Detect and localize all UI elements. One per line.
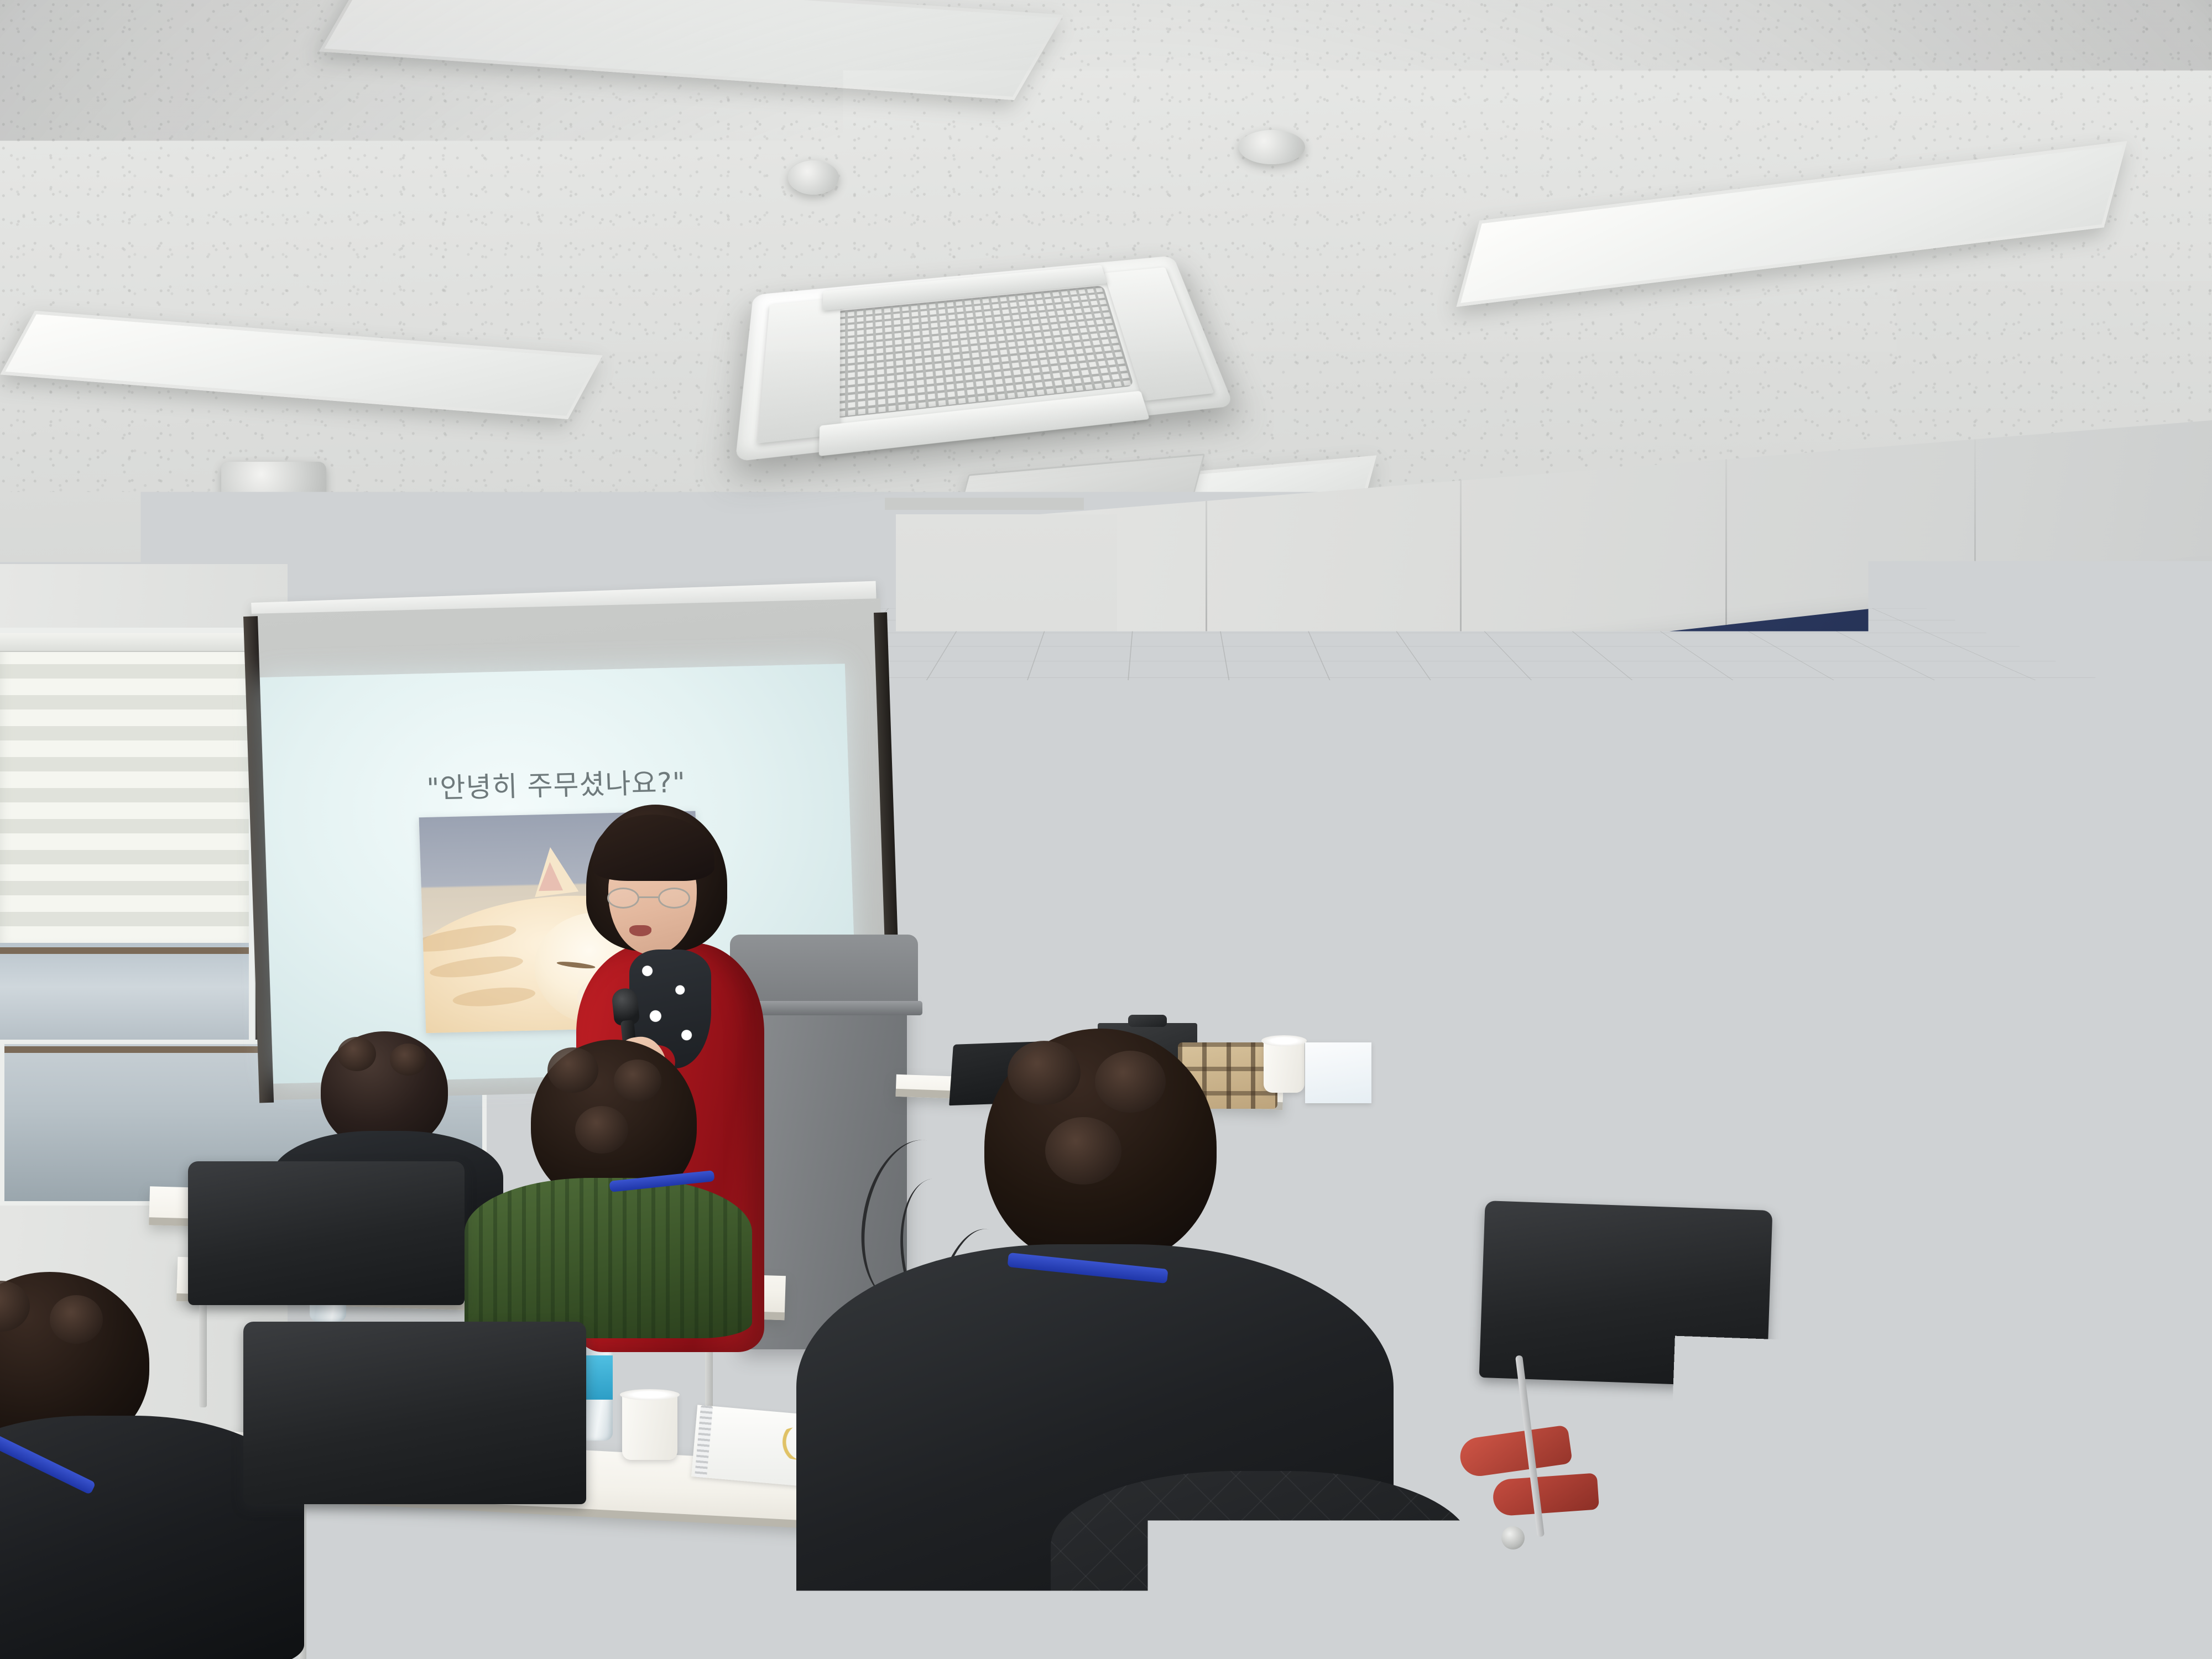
slide-title: "안녕히 주무셨나요?": [426, 760, 686, 806]
smoke-detector-icon: [1239, 130, 1305, 164]
glasses-bridge: [639, 896, 658, 898]
hair-texture: [390, 1044, 426, 1076]
spiral-binding: [1421, 1213, 1433, 1246]
glasses-icon: [607, 888, 690, 910]
hair-texture: [1908, 924, 1959, 969]
window-left: [0, 628, 254, 1053]
banner-eyelet: [1553, 795, 1562, 804]
hair-texture: [547, 1047, 598, 1093]
participant-torso: [465, 1178, 752, 1338]
participant-right-dark: [1825, 918, 2124, 1316]
sparkle-icon: ✦: [1611, 697, 1623, 710]
downlight-icon: [221, 462, 326, 500]
sparkle-icon: ✦: [1596, 757, 1604, 765]
chair-back: [188, 1161, 465, 1305]
quilted-jacket: [1051, 1471, 1471, 1659]
hair-texture: [1008, 1041, 1081, 1105]
chair-back: [243, 1322, 586, 1504]
speaker-knob: [1128, 1015, 1167, 1027]
window-rail: [0, 947, 249, 954]
chair[interactable]: [243, 1322, 586, 1504]
window-blind[interactable]: [0, 633, 249, 954]
cat-ear-inner: [538, 862, 563, 891]
star-icon: ★: [1580, 729, 1597, 747]
hair-texture: [614, 1060, 661, 1102]
hair-texture: [50, 1295, 103, 1344]
blind-headrail: [890, 669, 957, 688]
seminar-room-photo: "안녕히 주무셨나요?" ★ ✦ ✦ 불면증 예방을 위한 집단상담 프로그램 …: [0, 0, 2212, 1659]
hair-texture: [1653, 945, 1700, 985]
chair-back: [1479, 1201, 1773, 1387]
glasses-lens: [607, 888, 639, 909]
window-view: [0, 943, 249, 1048]
ac-louver: [758, 298, 841, 444]
window-blind[interactable]: [890, 669, 957, 907]
hair-texture: [337, 1037, 376, 1071]
hair-texture: [1095, 1051, 1166, 1113]
hair-texture: [575, 1106, 628, 1154]
spiral-binding: [1365, 1134, 1378, 1160]
shoe: [1492, 1473, 1599, 1516]
participant-far-right: [2057, 1371, 2212, 1659]
chair-caster: [1742, 1543, 1765, 1566]
hair-texture: [1971, 935, 2020, 978]
spiral-binding: [695, 1405, 713, 1478]
wall-trim: [885, 498, 1084, 510]
blind-headrail: [0, 633, 249, 652]
hair-texture: [1709, 954, 1753, 993]
chair-caster: [1501, 1526, 1525, 1550]
participant-torso: [1825, 1045, 2124, 1305]
participant-torso: [2057, 1438, 2212, 1659]
participant-left-green: [465, 1040, 752, 1327]
chair[interactable]: [188, 1161, 465, 1305]
chair[interactable]: [1479, 1201, 1773, 1387]
presenter-mouth: [629, 925, 651, 936]
banner-big-word: 잘자: [2003, 578, 2212, 741]
banner-eyelet: [1794, 651, 1804, 660]
smoke-detector-icon: [788, 160, 839, 195]
participant-center: [863, 1029, 1349, 1659]
hair-texture: [1045, 1117, 1121, 1185]
glasses-lens: [658, 888, 690, 909]
